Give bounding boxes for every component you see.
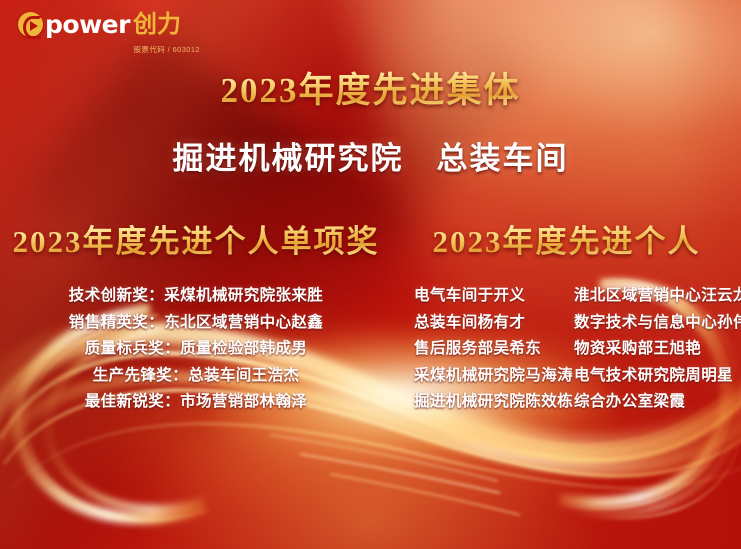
logo-word-en: power xyxy=(45,12,130,37)
section-heading-left-text: 2023年度先进个人单项奖 xyxy=(13,224,380,259)
section-headings-row: 2023年度先进个人单项奖 2023年度先进个人 xyxy=(0,216,741,261)
recipient-name-a: 采煤机械研究院马海涛 xyxy=(414,363,574,390)
logo-word-cn: 创力 xyxy=(133,13,181,37)
recipient-name-b: 数字技术与信息中心孙伟伟 xyxy=(574,310,741,337)
power-logo-icon xyxy=(18,12,43,37)
section-heading-right-text: 2023年度先进个人 xyxy=(433,224,701,259)
list-item: 生产先锋奖：总装车间王浩杰 xyxy=(0,363,392,390)
award-lists-row: 技术创新奖：采煤机械研究院张来胜 销售精英奖：东北区域营销中心赵鑫 质量标兵奖：… xyxy=(0,283,741,416)
recipient-name-a: 掘进机械研究院陈效栋 xyxy=(414,389,574,416)
award-poster: power 创力 股票代码 / 603012 2023年度先进集体 掘进机械研究… xyxy=(0,0,741,549)
stock-code-label: 股票代码 / 603012 xyxy=(18,44,208,55)
list-item: 电气车间于开义 淮北区域营销中心汪云龙 xyxy=(392,283,741,310)
recipient-name-b: 电气技术研究院周明星 xyxy=(574,363,733,390)
main-title-text: 2023年度先进集体 xyxy=(220,71,520,110)
recipient-name-a: 电气车间于开义 xyxy=(414,283,574,310)
award-list-left: 技术创新奖：采煤机械研究院张来胜 销售精英奖：东北区域营销中心赵鑫 质量标兵奖：… xyxy=(0,283,392,416)
section-heading-left: 2023年度先进个人单项奖 xyxy=(0,216,392,261)
list-item: 销售精英奖：东北区域营销中心赵鑫 xyxy=(0,310,392,337)
recipient-name-b: 淮北区域营销中心汪云龙 xyxy=(574,283,741,310)
list-item: 最佳新锐奖：市场营销部林翰泽 xyxy=(0,389,392,416)
sub-title: 掘进机械研究院 总装车间 xyxy=(0,133,741,178)
list-item: 总装车间杨有才 数字技术与信息中心孙伟伟 xyxy=(392,310,741,337)
recipient-name-b: 综合办公室梁霞 xyxy=(574,389,685,416)
recipient-name-b: 物资采购部王旭艳 xyxy=(574,336,701,363)
main-title: 2023年度先进集体 xyxy=(0,62,741,113)
recipient-name-a: 售后服务部吴希东 xyxy=(414,336,574,363)
sub-title-text: 掘进机械研究院 总装车间 xyxy=(173,141,569,176)
section-heading-right: 2023年度先进个人 xyxy=(392,216,741,261)
logo-wordmark-row: power 创力 xyxy=(18,12,208,37)
list-item: 质量标兵奖：质量检验部韩成男 xyxy=(0,336,392,363)
list-item: 技术创新奖：采煤机械研究院张来胜 xyxy=(0,283,392,310)
recipient-name-a: 总装车间杨有才 xyxy=(414,310,574,337)
list-item: 采煤机械研究院马海涛 电气技术研究院周明星 xyxy=(392,363,741,390)
company-logo[interactable]: power 创力 股票代码 / 603012 xyxy=(18,12,208,55)
award-list-right: 电气车间于开义 淮北区域营销中心汪云龙 总装车间杨有才 数字技术与信息中心孙伟伟… xyxy=(392,283,741,416)
list-item: 掘进机械研究院陈效栋 综合办公室梁霞 xyxy=(392,389,741,416)
list-item: 售后服务部吴希东 物资采购部王旭艳 xyxy=(392,336,741,363)
